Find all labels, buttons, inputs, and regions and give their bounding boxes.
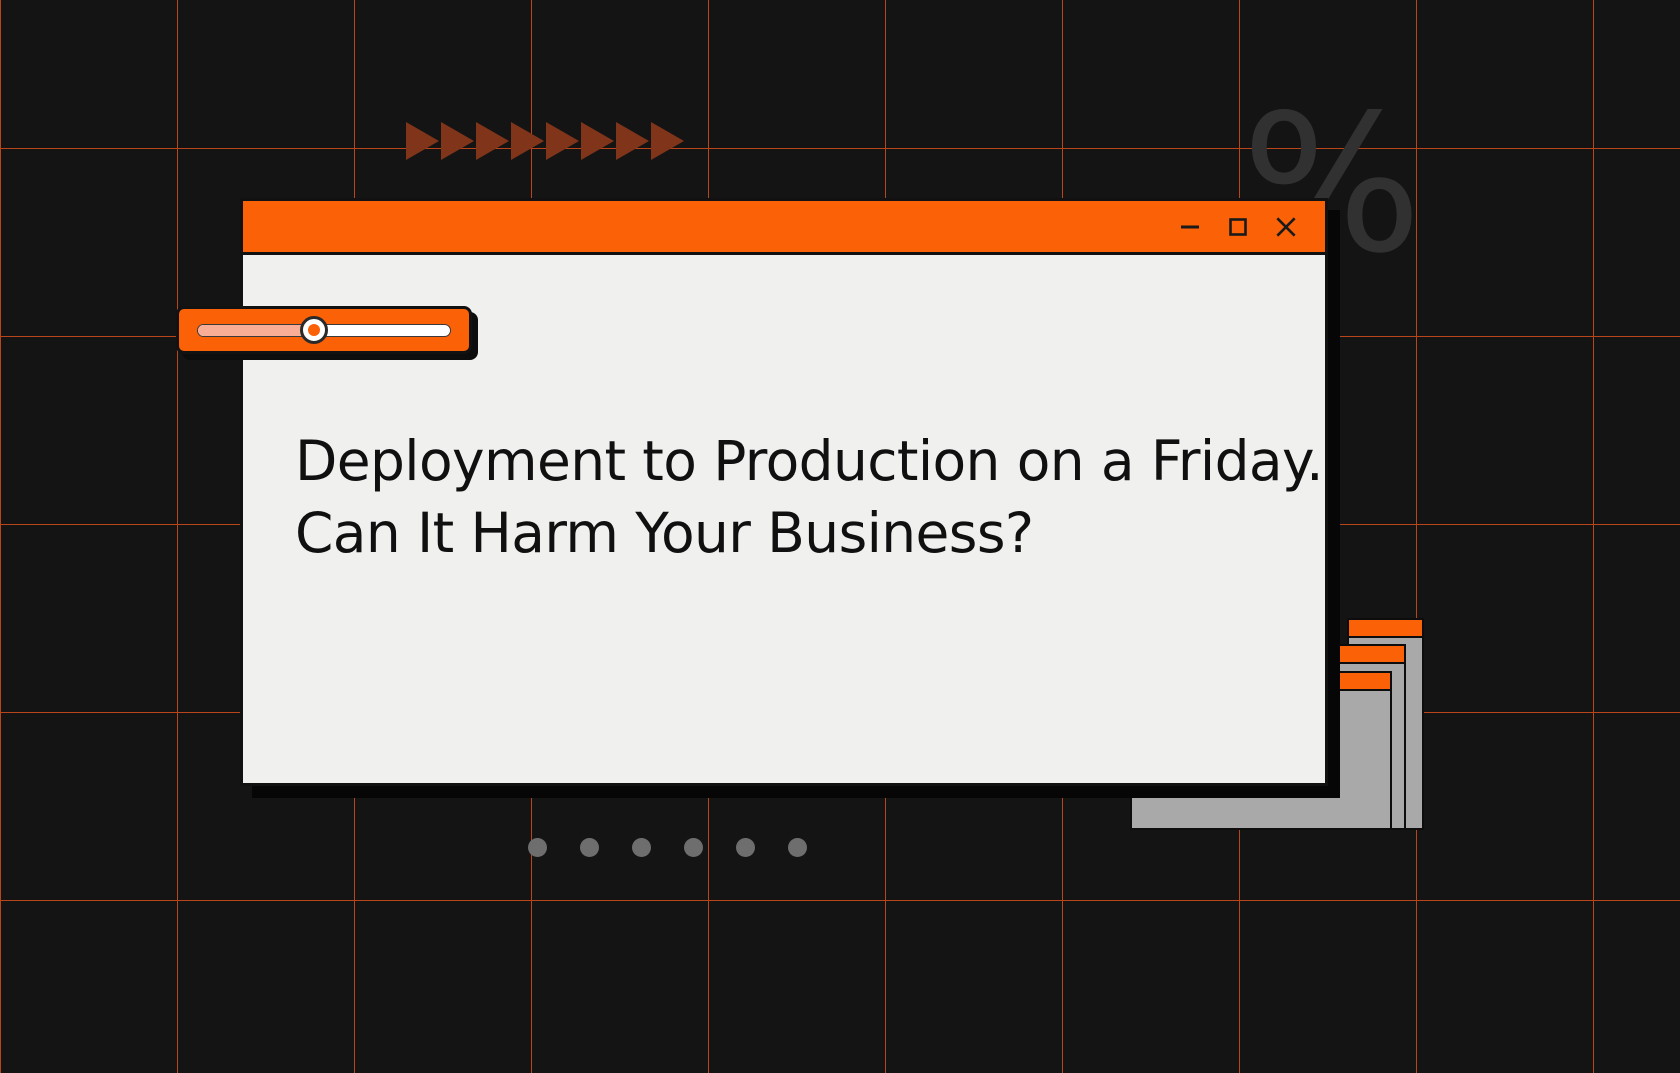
- slider-track[interactable]: [197, 324, 451, 337]
- play-triangle-icon: [476, 122, 509, 160]
- headline-line-1: Deployment to Production on a Friday.: [295, 425, 1273, 497]
- play-triangle-icon: [546, 122, 579, 160]
- dot-indicator: [684, 838, 703, 857]
- dot-indicator: [788, 838, 807, 857]
- stack-window-titlebar: [1349, 620, 1422, 638]
- play-triangle-icon: [581, 122, 614, 160]
- slider-widget[interactable]: [176, 306, 472, 354]
- close-icon[interactable]: [1273, 214, 1299, 240]
- maximize-icon[interactable]: [1225, 214, 1251, 240]
- play-triangle-icon: [651, 122, 684, 160]
- page-title: Deployment to Production on a Friday. Ca…: [295, 425, 1273, 569]
- play-triangle-icon: [511, 122, 544, 160]
- dot-indicator: [632, 838, 651, 857]
- main-window: Deployment to Production on a Friday. Ca…: [240, 198, 1328, 786]
- dot-indicator: [736, 838, 755, 857]
- slider-fill: [198, 325, 314, 336]
- window-titlebar: [243, 201, 1325, 255]
- slider-thumb[interactable]: [300, 316, 328, 344]
- arrow-triangles-row: [406, 122, 684, 160]
- dot-indicator: [580, 838, 599, 857]
- minimize-icon[interactable]: [1177, 214, 1203, 240]
- play-triangle-icon: [616, 122, 649, 160]
- pagination-dots: [528, 838, 807, 857]
- dot-indicator: [528, 838, 547, 857]
- play-triangle-icon: [441, 122, 474, 160]
- play-triangle-icon: [406, 122, 439, 160]
- headline-line-2: Can It Harm Your Business?: [295, 497, 1273, 569]
- poster-canvas: %: [0, 0, 1680, 1073]
